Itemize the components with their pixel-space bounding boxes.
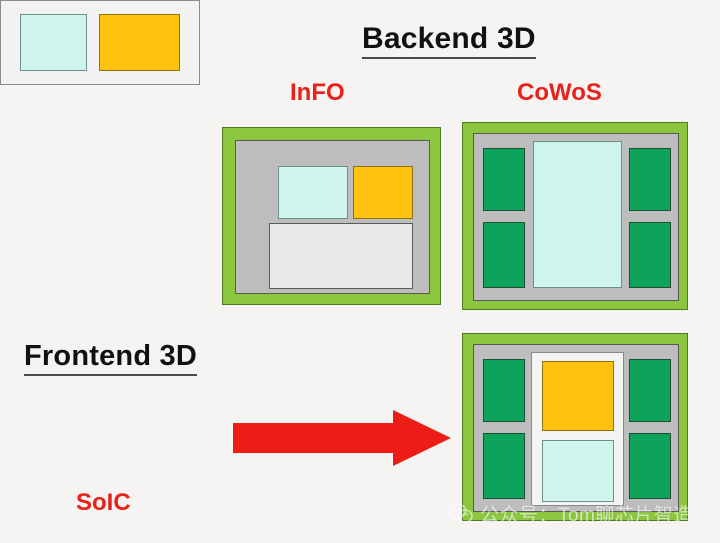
package-info bbox=[222, 127, 441, 305]
soic-logic-die bbox=[20, 14, 87, 71]
info-memory-die bbox=[353, 166, 413, 219]
label-soic: SoIC bbox=[76, 489, 131, 517]
soic-cowos-stack-frame bbox=[531, 352, 624, 506]
cowos-logic-die bbox=[533, 141, 622, 288]
frontend-to-backend-arrow-icon bbox=[233, 410, 451, 466]
soic-cowos-hbm-top-left bbox=[483, 359, 525, 422]
package-soic-on-cowos-substrate bbox=[473, 344, 679, 512]
info-logic-die bbox=[278, 166, 348, 219]
soic-memory-die bbox=[99, 14, 180, 71]
title-frontend-text: Frontend 3D bbox=[24, 340, 197, 372]
cowos-hbm-top-left bbox=[483, 148, 525, 211]
package-soic-on-cowos bbox=[462, 333, 688, 521]
soic-cowos-bottom-die bbox=[542, 440, 614, 502]
label-info: InFO bbox=[290, 79, 345, 107]
label-cowos: CoWoS bbox=[517, 79, 602, 107]
package-soic bbox=[0, 0, 200, 85]
title-backend-text: Backend 3D bbox=[362, 22, 536, 55]
info-rdl-layer bbox=[269, 223, 413, 289]
package-cowos bbox=[462, 122, 688, 310]
title-backend-underline bbox=[362, 57, 536, 59]
soic-cowos-hbm-top-right bbox=[629, 359, 671, 422]
diagram-canvas: Backend 3D Frontend 3D InFO CoWoS SoIC bbox=[0, 0, 720, 543]
package-info-substrate bbox=[235, 140, 430, 294]
cowos-hbm-bottom-right bbox=[629, 222, 671, 288]
cowos-hbm-top-right bbox=[629, 148, 671, 211]
title-frontend-underline bbox=[24, 374, 197, 376]
soic-cowos-hbm-bottom-right bbox=[629, 433, 671, 499]
soic-cowos-top-die bbox=[542, 361, 614, 431]
page-title-backend-3d: Backend 3D bbox=[362, 22, 536, 59]
cowos-hbm-bottom-left bbox=[483, 222, 525, 288]
page-title-frontend-3d: Frontend 3D bbox=[24, 340, 197, 376]
package-cowos-substrate bbox=[473, 133, 679, 301]
soic-cowos-hbm-bottom-left bbox=[483, 433, 525, 499]
